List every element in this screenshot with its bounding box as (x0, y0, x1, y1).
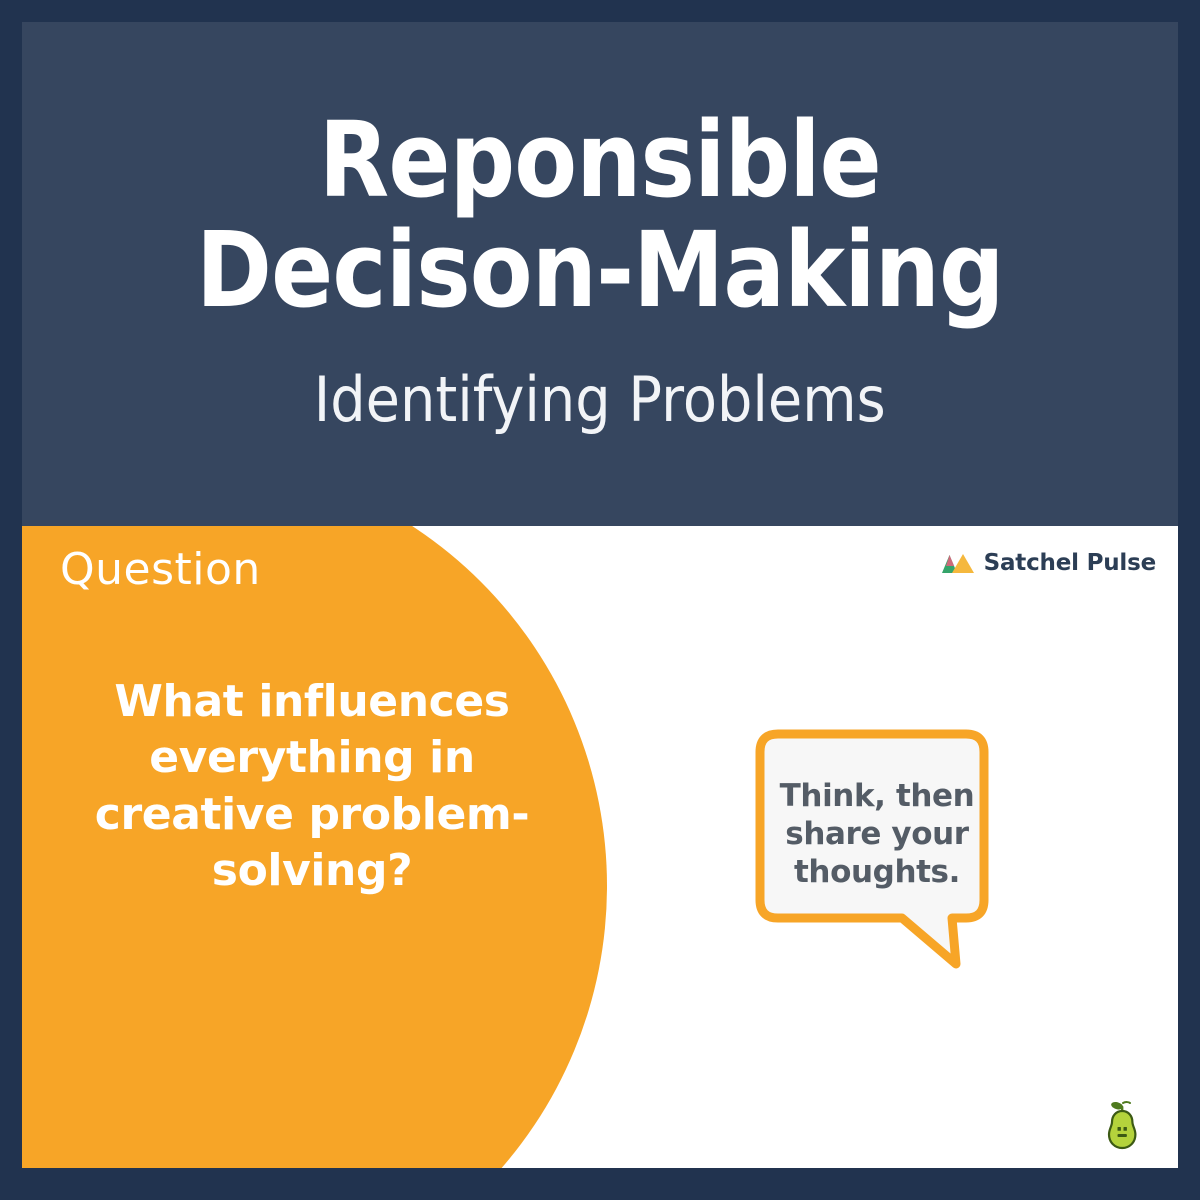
question-text: What influences everything in creative p… (62, 674, 562, 899)
prompt-bubble: Think, then share your thoughts. (752, 726, 1002, 986)
page-title: Reponsible Decison-Making (196, 105, 1004, 325)
brand-name: Satchel Pulse (984, 552, 1156, 575)
question-label: Question (60, 548, 261, 592)
pear-icon (1100, 1096, 1144, 1152)
page-subtitle: Identifying Problems (314, 363, 886, 437)
prompt-bubble-text: Think, then share your thoughts. (770, 778, 984, 891)
slide-header: Reponsible Decison-Making Identifying Pr… (22, 22, 1178, 526)
slide-body-card: Question What influences everything in c… (22, 526, 1178, 1168)
slide-canvas: Reponsible Decison-Making Identifying Pr… (0, 0, 1200, 1200)
brand-lockup: Satchel Pulse (941, 552, 1156, 575)
mountains-icon (941, 553, 975, 575)
